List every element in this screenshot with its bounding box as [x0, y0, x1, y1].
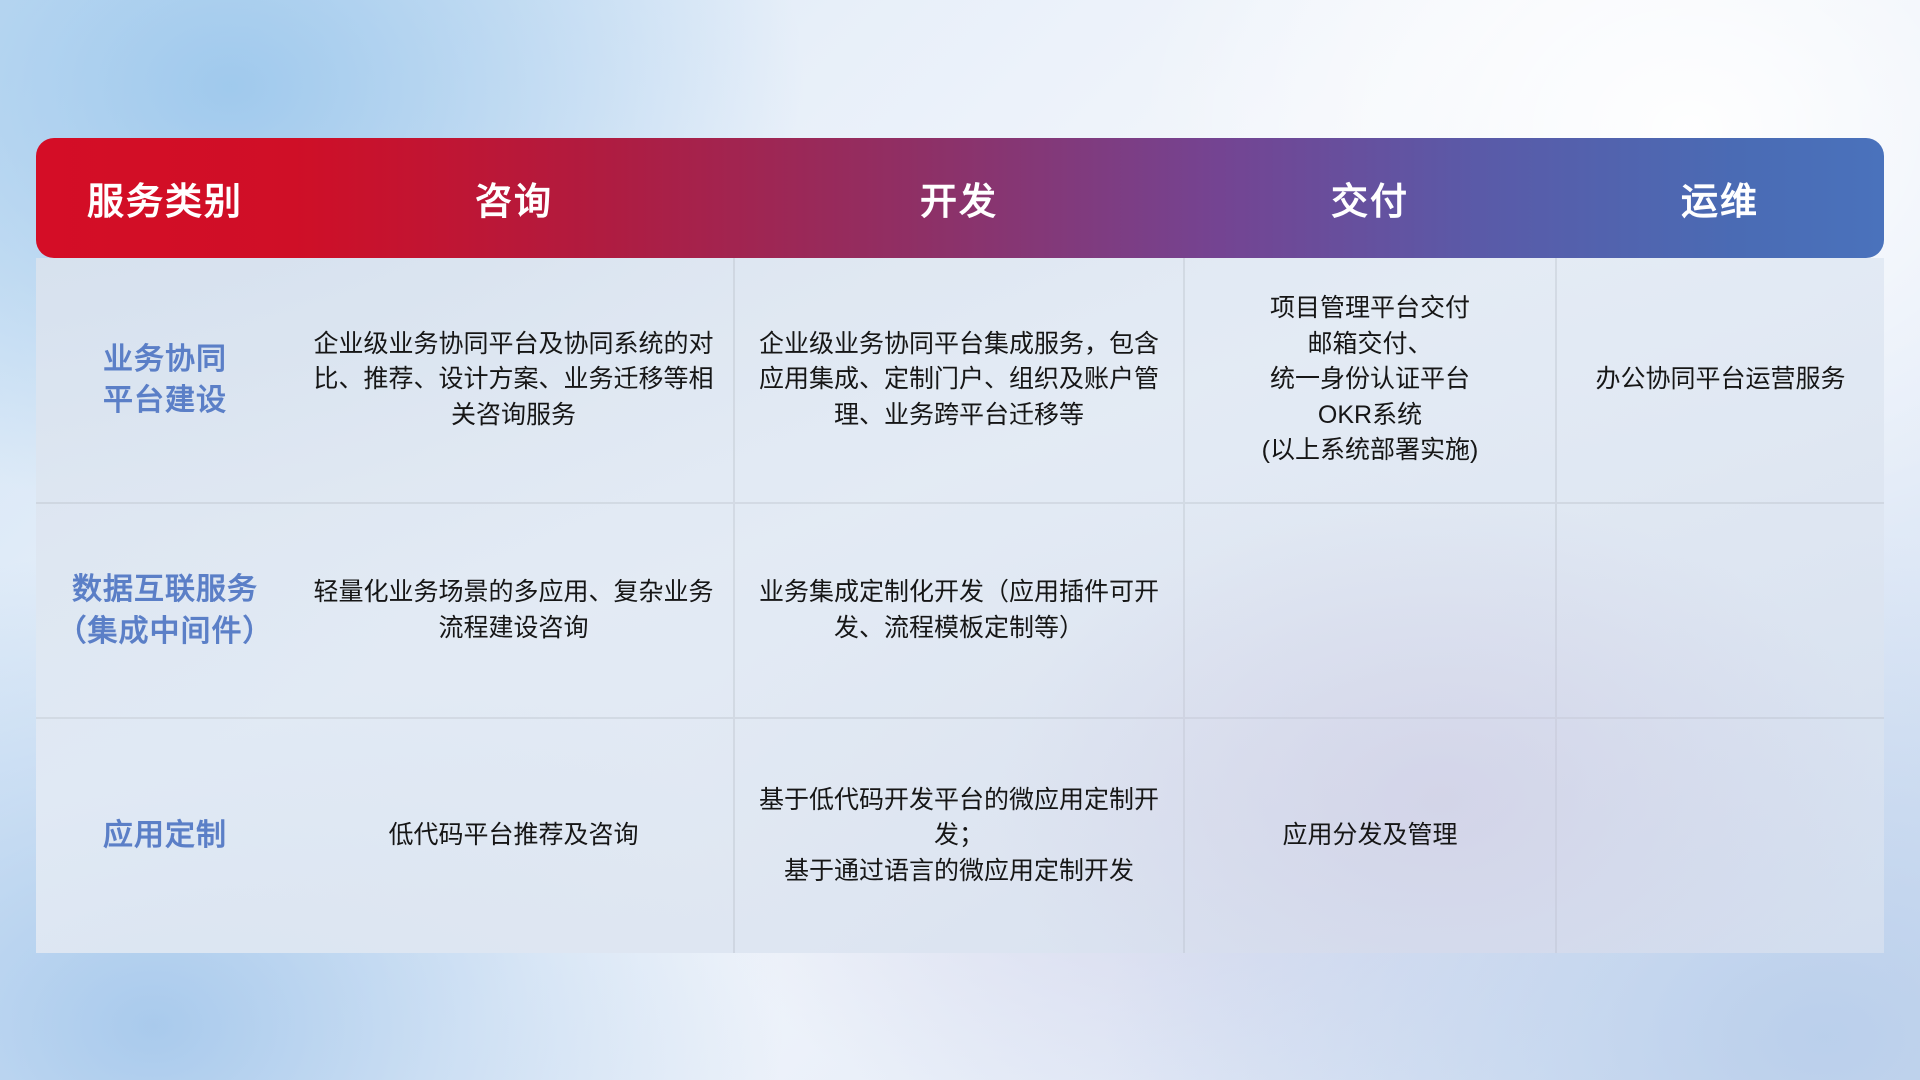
cell-delivery: 应用分发及管理	[1184, 718, 1556, 953]
slide-canvas: 服务类别 咨询 开发 交付 运维 业务协同 平台建设 企业级业务协同平台及协同系…	[0, 0, 1920, 1080]
cell-consulting: 轻量化业务场景的多应用、复杂业务流程建设咨询	[294, 503, 734, 718]
table-row: 数据互联服务 （集成中间件） 轻量化业务场景的多应用、复杂业务流程建设咨询 业务…	[36, 503, 1884, 718]
cell-delivery	[1184, 503, 1556, 718]
table-row: 应用定制 低代码平台推荐及咨询 基于低代码开发平台的微应用定制开发； 基于通过语…	[36, 718, 1884, 953]
category-line: （集成中间件）	[50, 611, 280, 652]
category-line: 数据互联服务	[50, 569, 280, 610]
table-body: 业务协同 平台建设 企业级业务协同平台及协同系统的对比、推荐、设计方案、业务迁移…	[36, 258, 1884, 953]
cell-operations	[1556, 503, 1884, 718]
delivery-line: 项目管理平台交付	[1199, 291, 1541, 327]
row-category-label: 业务协同 平台建设	[36, 258, 294, 503]
service-table: 服务类别 咨询 开发 交付 运维 业务协同 平台建设 企业级业务协同平台及协同系…	[36, 138, 1884, 953]
delivery-line: 统一身份认证平台	[1199, 362, 1541, 398]
cell-consulting: 企业级业务协同平台及协同系统的对比、推荐、设计方案、业务迁移等相关咨询服务	[294, 258, 734, 503]
column-header-service-category: 服务类别	[36, 138, 294, 258]
cell-development: 企业级业务协同平台集成服务，包含应用集成、定制门户、组织及账户管理、业务跨平台迁…	[734, 258, 1184, 503]
row-category-label: 应用定制	[36, 718, 294, 953]
development-line: 基于通过语言的微应用定制开发	[749, 854, 1169, 890]
delivery-line: 邮箱交付、	[1199, 327, 1541, 363]
column-header-development: 开发	[734, 138, 1184, 258]
cell-consulting: 低代码平台推荐及咨询	[294, 718, 734, 953]
table-head: 服务类别 咨询 开发 交付 运维	[36, 138, 1884, 258]
column-header-delivery: 交付	[1184, 138, 1556, 258]
category-line: 应用定制	[50, 815, 280, 856]
delivery-line: OKR系统	[1199, 398, 1541, 434]
development-line: 基于低代码开发平台的微应用定制开发；	[749, 783, 1169, 854]
cell-delivery: 项目管理平台交付 邮箱交付、 统一身份认证平台 OKR系统 (以上系统部署实施)	[1184, 258, 1556, 503]
category-line: 业务协同	[50, 339, 280, 380]
cell-operations: 办公协同平台运营服务	[1556, 258, 1884, 503]
cell-development: 业务集成定制化开发（应用插件可开发、流程模板定制等）	[734, 503, 1184, 718]
delivery-line: 应用分发及管理	[1199, 818, 1541, 854]
row-category-label: 数据互联服务 （集成中间件）	[36, 503, 294, 718]
service-matrix-table: 服务类别 咨询 开发 交付 运维 业务协同 平台建设 企业级业务协同平台及协同系…	[36, 138, 1884, 953]
cell-development: 基于低代码开发平台的微应用定制开发； 基于通过语言的微应用定制开发	[734, 718, 1184, 953]
column-header-consulting: 咨询	[294, 138, 734, 258]
table-row: 业务协同 平台建设 企业级业务协同平台及协同系统的对比、推荐、设计方案、业务迁移…	[36, 258, 1884, 503]
cell-operations	[1556, 718, 1884, 953]
category-line: 平台建设	[50, 380, 280, 421]
delivery-line: (以上系统部署实施)	[1199, 433, 1541, 469]
column-header-operations: 运维	[1556, 138, 1884, 258]
header-row: 服务类别 咨询 开发 交付 运维	[36, 138, 1884, 258]
